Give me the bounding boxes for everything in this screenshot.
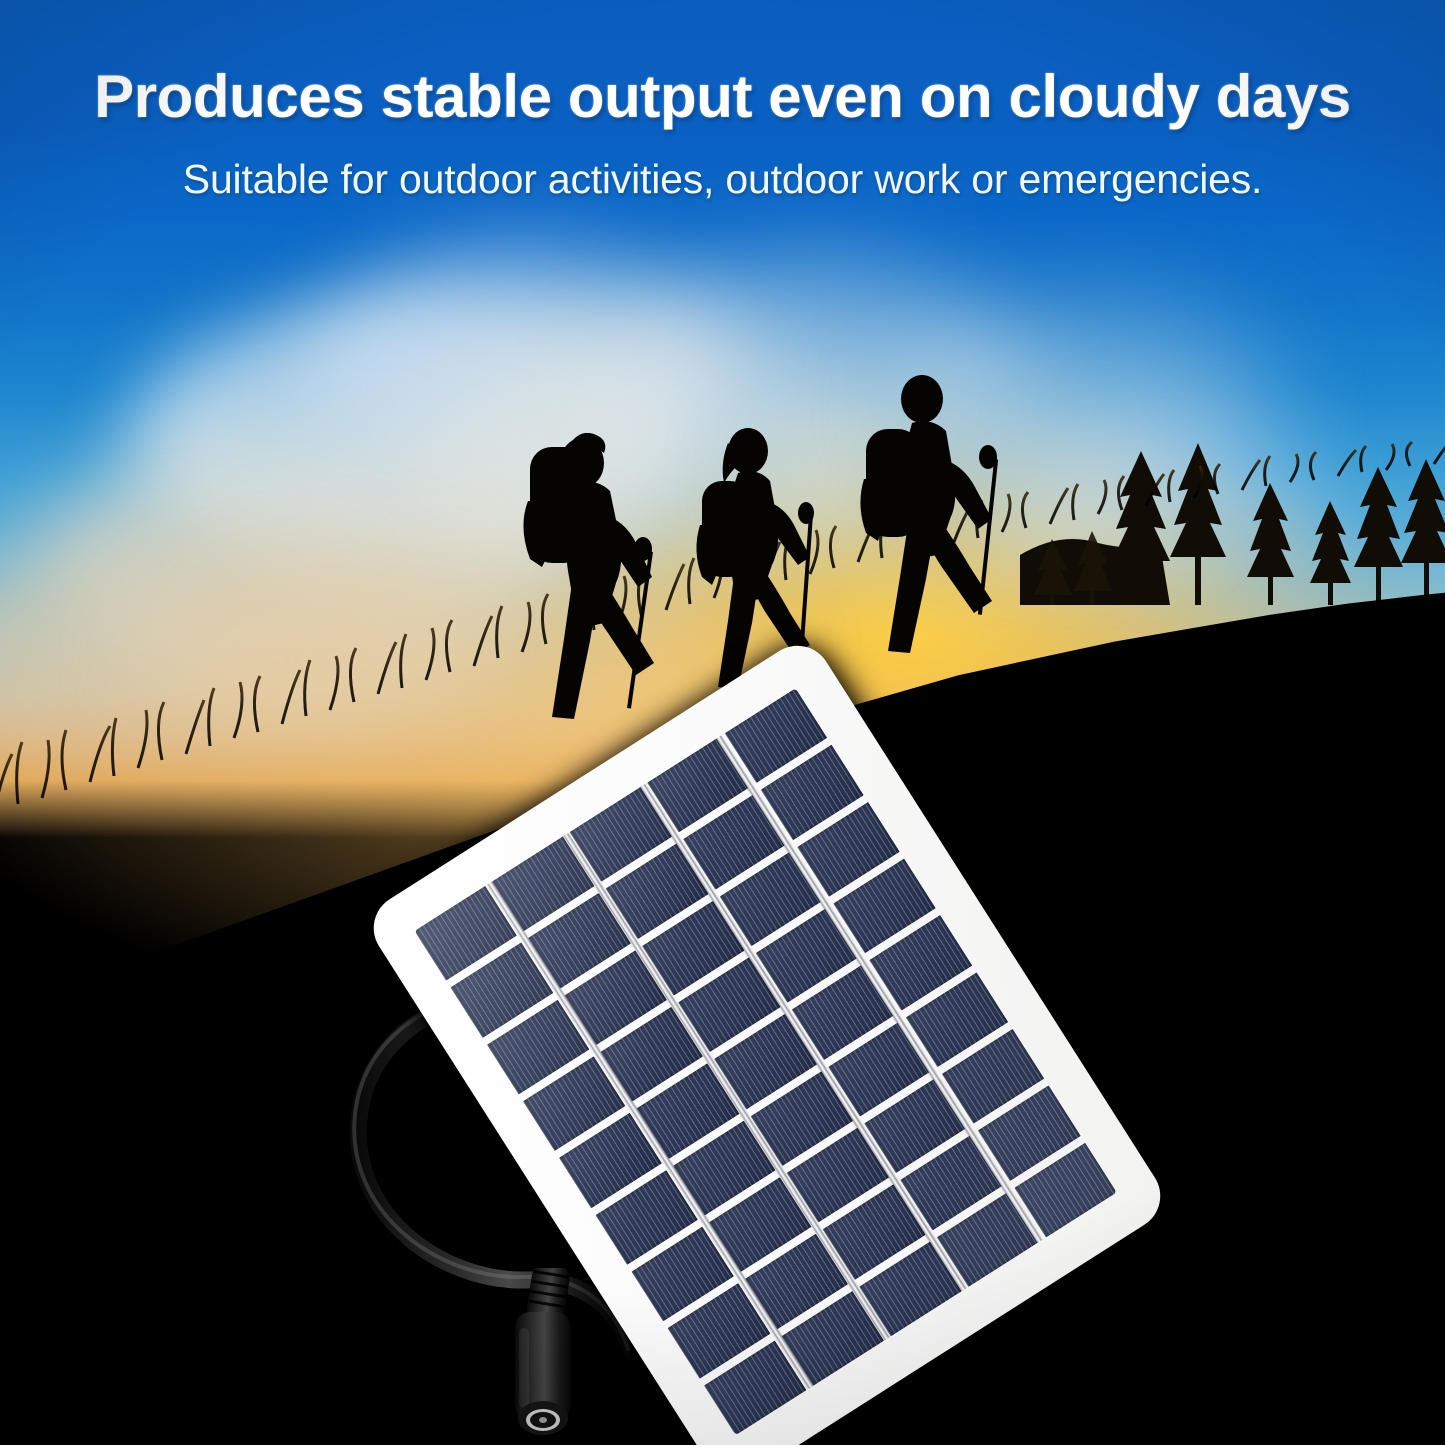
solar-cell-area <box>414 688 1117 1435</box>
solar-panel-body[interactable] <box>361 633 1173 1445</box>
hiker-silhouette-3 <box>860 375 998 653</box>
pine-treeline-silhouette-icon <box>1020 405 1445 605</box>
hikers-silhouette-icon <box>430 355 1050 725</box>
product-banner: 300V AWG <box>0 0 1445 1445</box>
page-subtitle: Suitable for outdoor activities, outdoor… <box>0 156 1445 203</box>
solar-cell-grid <box>414 688 1117 1435</box>
hiker-silhouette-1 <box>523 433 654 719</box>
page-title: Produces stable output even on cloudy da… <box>0 66 1445 128</box>
portable-solar-panel[interactable] <box>452 697 1238 1407</box>
